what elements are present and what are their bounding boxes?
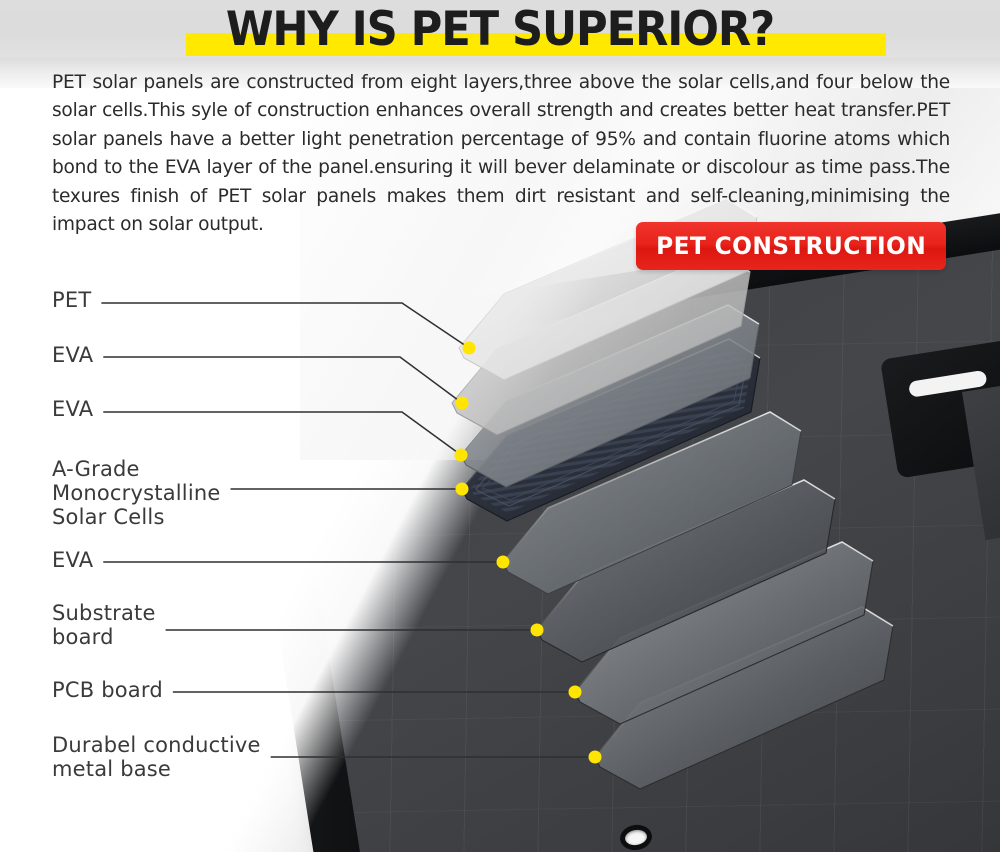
callout-label-substrate: Substrate board — [52, 601, 156, 649]
page-title-wrap: WHY IS PET SUPERIOR? — [0, 0, 1000, 59]
callout-label-eva-top: EVA — [52, 343, 93, 367]
page-title: WHY IS PET SUPERIOR? — [226, 1, 774, 59]
callout-label-pet: PET — [52, 288, 91, 312]
pet-construction-badge-label: PET CONSTRUCTION — [656, 232, 926, 260]
callout-label-solar-cells: A-Grade Monocrystalline Solar Cells — [52, 457, 221, 529]
callout-label-eva-bottom: EVA — [52, 548, 93, 572]
infographic-canvas: WHY IS PET SUPERIOR? PET solar panels ar… — [0, 0, 1000, 852]
callout-label-eva-second: EVA — [52, 397, 93, 421]
pet-construction-badge[interactable]: PET CONSTRUCTION — [636, 222, 946, 270]
callout-label-pcb: PCB board — [52, 678, 163, 702]
intro-paragraph: PET solar panels are constructed from ei… — [52, 69, 950, 239]
callout-label-metal-base: Durabel conductive metal base — [52, 733, 261, 781]
header: WHY IS PET SUPERIOR? — [0, 0, 1000, 64]
